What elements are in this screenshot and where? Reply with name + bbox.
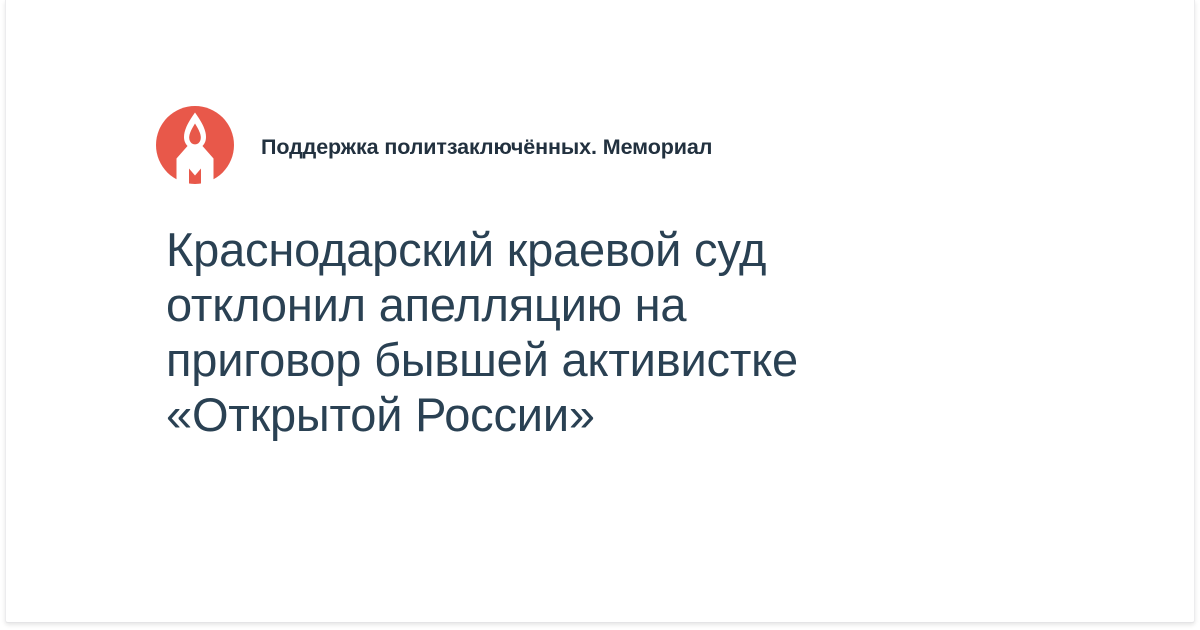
brand-header: Поддержка политзаключённых. Мемориал [156, 106, 712, 188]
brand-name-label: Поддержка политзаключённых. Мемориал [261, 135, 712, 160]
headline-line-2: отклонил апелляцию на [166, 277, 1036, 332]
headline-line-1: Краснодарский краевой суд [166, 222, 1036, 277]
headline-line-3: приговор бывшей активистке [166, 332, 1036, 387]
headline-line-4: «Открытой России» [166, 387, 1036, 442]
og-preview-card: Поддержка политзаключённых. Мемориал Кра… [5, 0, 1195, 623]
page-title: Краснодарский краевой суд отклонил апелл… [166, 222, 1036, 442]
memorial-candle-logo-icon [156, 106, 236, 188]
